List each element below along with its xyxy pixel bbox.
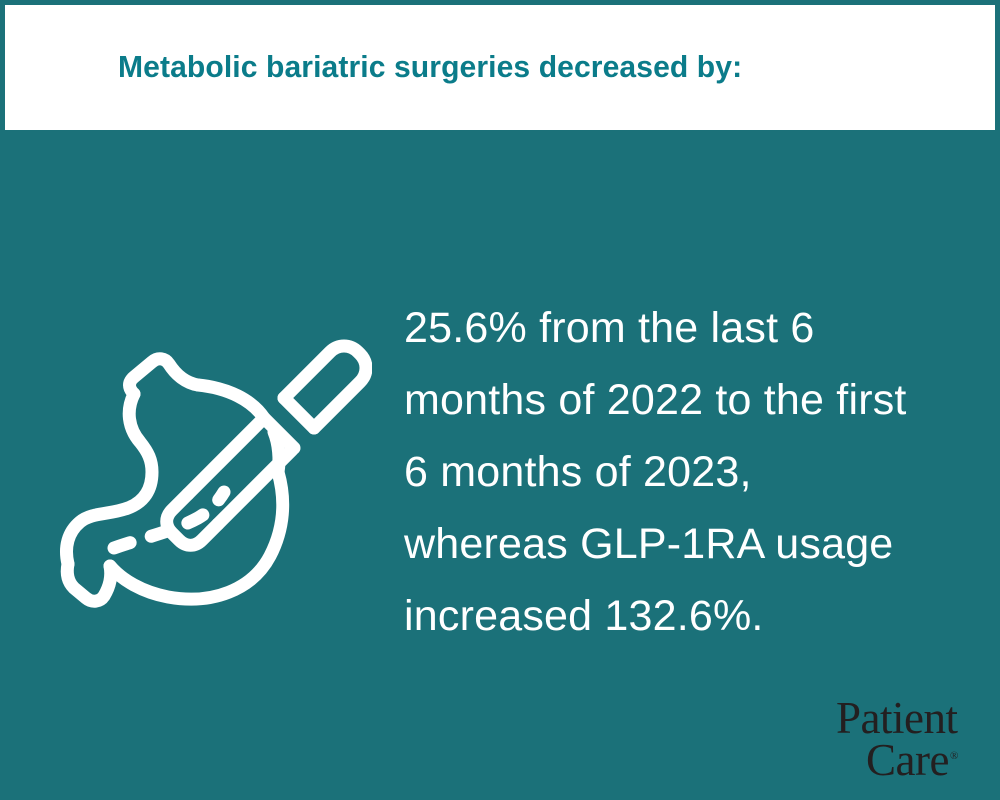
page-title: Metabolic bariatric surgeries decreased … — [118, 50, 742, 84]
header-band: Metabolic bariatric surgeries decreased … — [0, 0, 1000, 136]
stomach-lesser-curve-path — [67, 394, 153, 564]
brand-logo: Patient Care® — [836, 697, 988, 782]
statement-line: months of 2022 to the first — [404, 364, 970, 436]
stomach-fundus-upper-path — [198, 385, 264, 418]
statement-line: increased 132.6%. — [404, 580, 970, 652]
statement-line: whereas GLP-1RA usage — [404, 508, 970, 580]
brand-logo-line-care: Care — [866, 735, 949, 785]
registered-trademark-icon: ® — [950, 750, 958, 762]
infographic-canvas: Metabolic bariatric surgeries decreased … — [0, 0, 1000, 800]
statement-block: 25.6% from the last 6 months of 2022 to … — [404, 292, 970, 652]
brand-logo-line-patient: Patient — [836, 697, 988, 739]
stomach-surgery-icon — [52, 332, 372, 622]
statement-line: 6 months of 2023, — [404, 436, 970, 508]
statement-line: 25.6% from the last 6 — [404, 292, 970, 364]
brand-logo-line-care-row: Care® — [836, 739, 988, 781]
stomach-cardia-path — [130, 359, 199, 394]
stomach-pylorus-path — [67, 564, 111, 601]
header-inner-panel: Metabolic bariatric surgeries decreased … — [5, 5, 995, 130]
